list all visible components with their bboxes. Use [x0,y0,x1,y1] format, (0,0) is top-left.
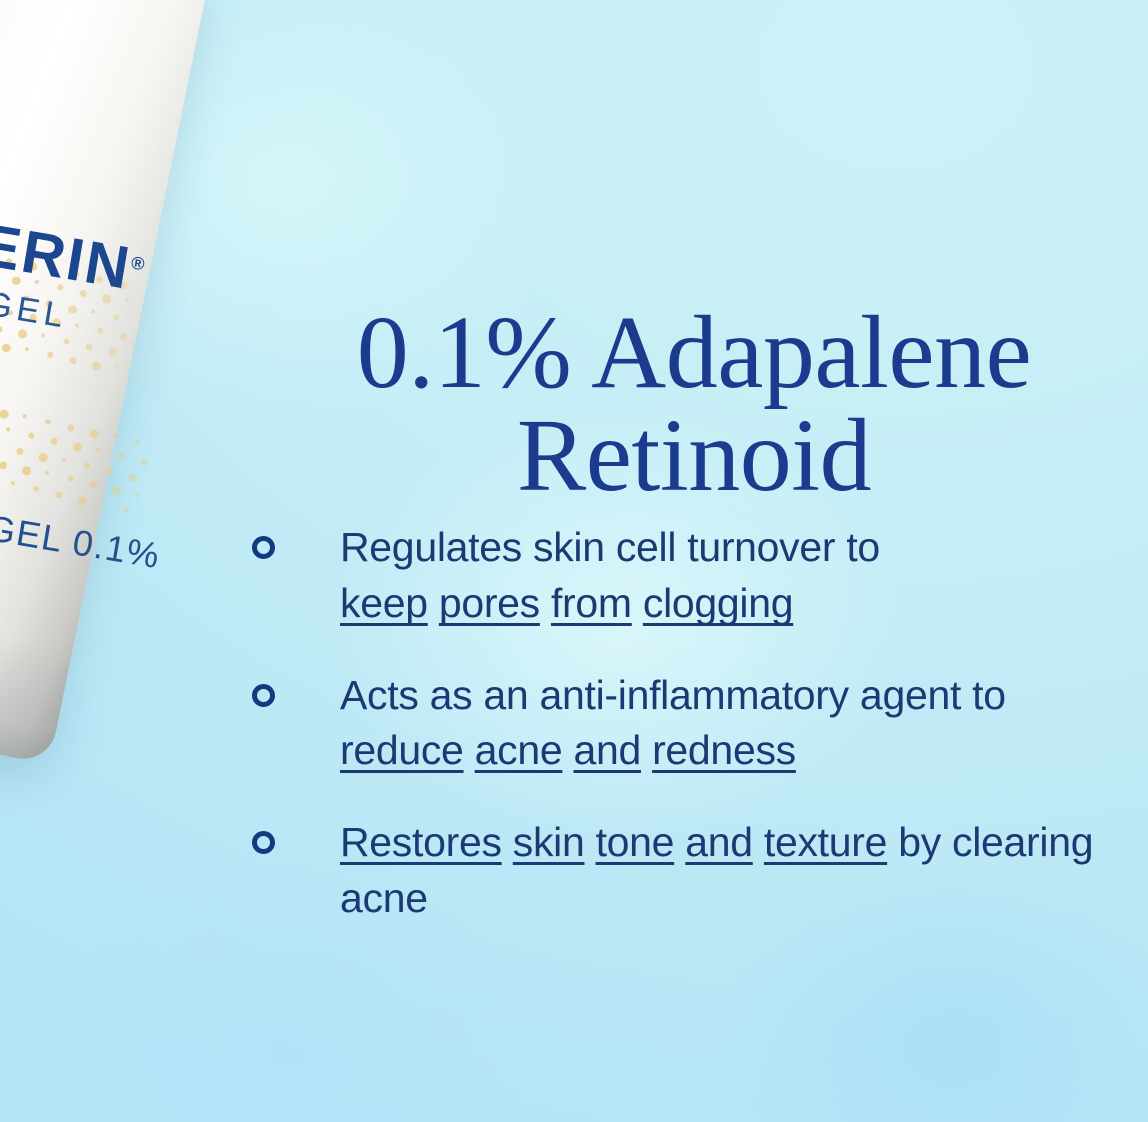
brand-word: DIFFERIN [0,187,136,301]
underlined-phrase: reduce [340,727,464,773]
underlined-phrase: skin [513,819,585,865]
underlined-phrase: clogging [643,580,793,626]
plain-phrase: Regulates skin cell turnover to [340,524,880,570]
promo-image: DIFFERIN® GEL ACNE TREATMENT ADAPALENE G… [0,0,1148,1122]
ring-bullet-icon [252,831,275,854]
underlined-phrase: redness [652,727,796,773]
list-item: Acts as an anti-inflammatory agent to re… [252,668,1132,780]
ring-bullet-icon [252,536,275,559]
headline-line-1: 0.1% Adapalene [357,295,1032,410]
underlined-phrase: and [573,727,641,773]
registered-trademark-icon: ® [130,252,148,274]
list-item-text: Acts as an anti-inflammatory agent to re… [340,668,1132,780]
underlined-phrase: and [685,819,753,865]
plain-phrase: Acts as an anti-inflammatory agent to [340,672,1006,718]
content-column: 0.1% Adapalene Retinoid Regulates skin c… [252,0,1132,1122]
underlined-phrase: Restores [340,819,502,865]
list-item: Restores skin tone and texture by cleari… [252,815,1132,927]
list-item-text: Regulates skin cell turnover to keep por… [340,520,1132,632]
headline-line-2: Retinoid [264,405,1124,508]
list-item-text: Restores skin tone and texture by cleari… [340,815,1132,927]
benefit-list: Regulates skin cell turnover to keep por… [252,520,1132,963]
underlined-phrase: tone [596,819,675,865]
page-title: 0.1% Adapalene Retinoid [264,302,1124,508]
list-item: Regulates skin cell turnover to keep por… [252,520,1132,632]
underlined-phrase: keep [340,580,428,626]
underlined-phrase: pores [439,580,540,626]
ring-bullet-icon [252,684,275,707]
underlined-phrase: texture [764,819,887,865]
underlined-phrase: acne [475,727,563,773]
underlined-phrase: from [551,580,632,626]
